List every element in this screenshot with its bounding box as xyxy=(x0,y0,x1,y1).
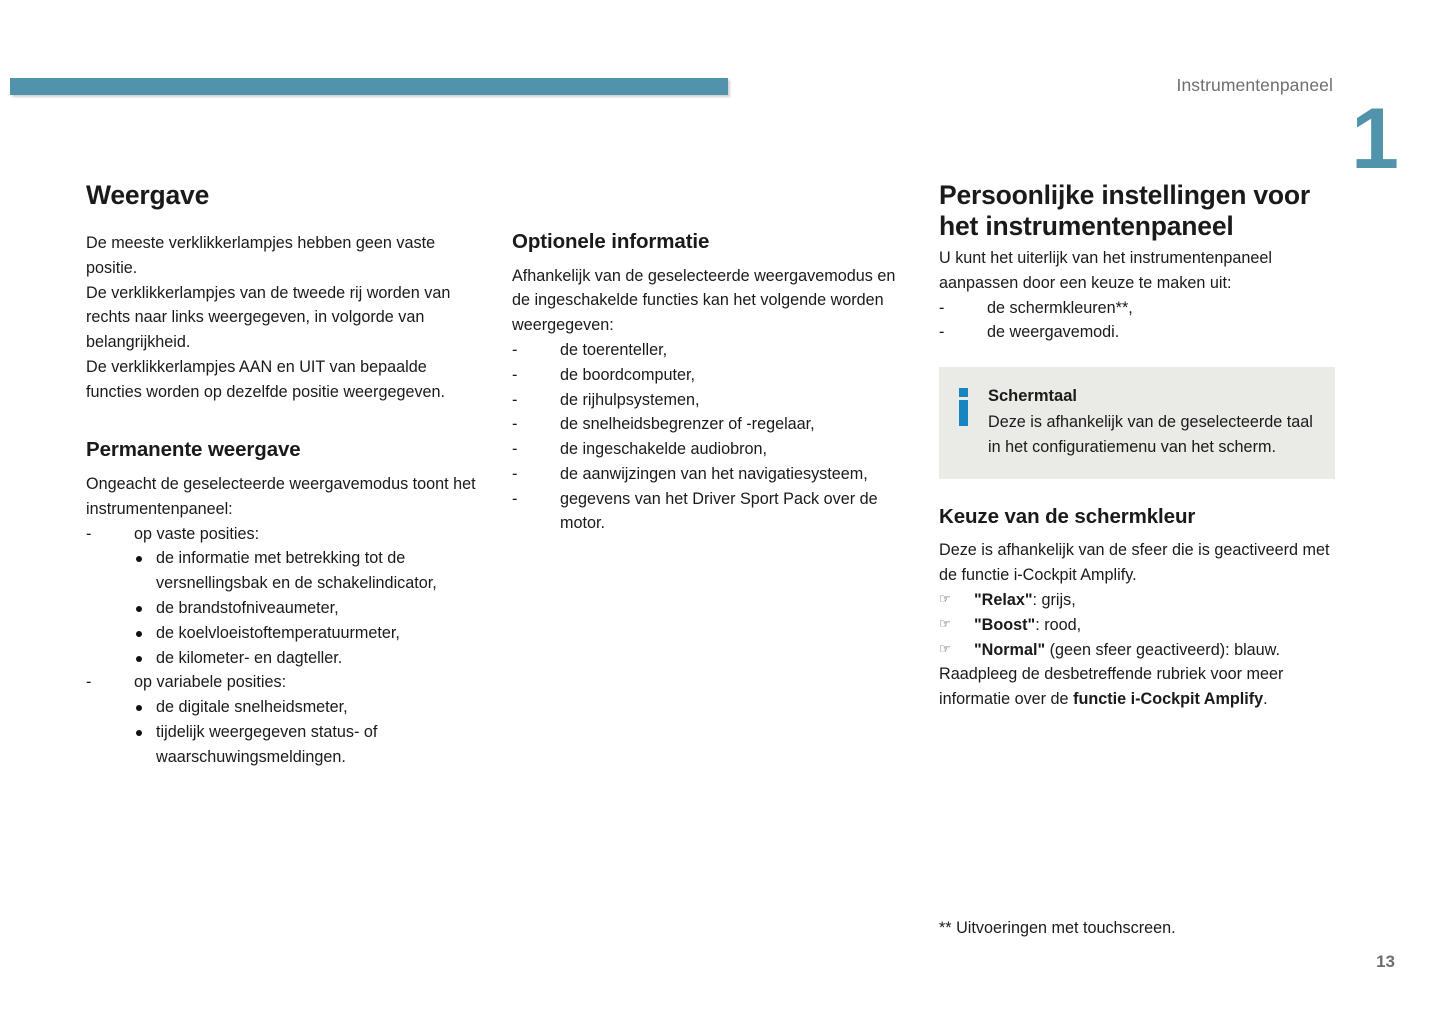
mode-name: "Normal" xyxy=(974,641,1045,659)
list-item-label: op vaste posities: xyxy=(134,525,259,543)
list-item: tijdelijk weergegeven status- of waarsch… xyxy=(134,720,478,770)
info-icon-stem xyxy=(959,400,968,426)
section-heading-persoonlijke-instellingen: Persoonlijke instellingen voor het instr… xyxy=(939,180,1339,242)
footnote: ** Uitvoeringen met touchscreen. xyxy=(939,916,1176,940)
list-item: op variabele posities: de digitale snelh… xyxy=(86,670,478,769)
paragraph-intro: Deze is afhankelijk van de sfeer die is … xyxy=(939,538,1339,588)
list-schermkleuren: "Relax": grijs, "Boost": rood, "Normal" … xyxy=(939,588,1339,662)
info-box-text: Deze is afhankelijk van de geselecteerde… xyxy=(988,410,1315,459)
sublist: de digitale snelheidsmeter, tijdelijk we… xyxy=(134,695,478,769)
paragraph-intro: Afhankelijk van de geselecteerde weergav… xyxy=(512,264,910,338)
chapter-number: 1 xyxy=(1351,96,1397,182)
list-item: de informatie met betrekking tot de vers… xyxy=(134,546,478,596)
list-item: de brandstofniveaumeter, xyxy=(134,596,478,621)
column-middle: Optionele informatie Afhankelijk van de … xyxy=(512,230,910,536)
column-left: Weergave De meeste verklikkerlampjes heb… xyxy=(86,180,478,769)
list-item: de toerenteller, xyxy=(512,338,910,363)
mode-value: : rood, xyxy=(1035,616,1081,634)
list-permanente-weergave: op vaste posities: de informatie met bet… xyxy=(86,522,478,770)
paragraph-outro: Raadpleeg de desbetreffende rubriek voor… xyxy=(939,662,1339,712)
paragraph: De verklikkerlampjes van de tweede rij w… xyxy=(86,281,478,355)
list-item: de digitale snelheidsmeter, xyxy=(134,695,478,720)
subheading-permanente-weergave: Permanente weergave xyxy=(86,438,478,463)
info-box-title: Schermtaal xyxy=(988,385,1315,408)
column-right: Persoonlijke instellingen voor het instr… xyxy=(939,180,1339,712)
list-item: "Normal" (geen sfeer geactiveerd): blauw… xyxy=(939,638,1339,663)
subheading-optionele-informatie: Optionele informatie xyxy=(512,230,910,255)
paragraph: De meeste verklikkerlampjes hebben geen … xyxy=(86,231,478,281)
list-item-label: op variabele posities: xyxy=(134,673,286,691)
mode-value: : grijs, xyxy=(1033,591,1076,609)
info-icon-dot xyxy=(959,388,968,397)
subheading-keuze-schermkleur: Keuze van de schermkleur xyxy=(939,505,1339,530)
list-item: de ingeschakelde audiobron, xyxy=(512,437,910,462)
paragraph: De verklikkerlampjes AAN en UIT van bepa… xyxy=(86,355,478,405)
outro-text-bold: functie i-Cockpit Amplify xyxy=(1073,690,1263,708)
outro-text-post: . xyxy=(1263,690,1268,708)
info-icon xyxy=(959,385,970,459)
list-item: de aanwijzingen van het navigatiesysteem… xyxy=(512,462,910,487)
list-item: de snelheidsbegrenzer of -regelaar, xyxy=(512,412,910,437)
list-item: "Relax": grijs, xyxy=(939,588,1339,613)
section-heading-weergave: Weergave xyxy=(86,180,478,211)
paragraph-intro: U kunt het uiterlijk van het instrumente… xyxy=(939,246,1339,296)
list-item: op vaste posities: de informatie met bet… xyxy=(86,522,478,671)
list-item: de weergavemodi. xyxy=(939,320,1339,345)
info-box-body: Schermtaal Deze is afhankelijk van de ge… xyxy=(988,385,1315,459)
list-item: "Boost": rood, xyxy=(939,613,1339,638)
list-item: gegevens van het Driver Sport Pack over … xyxy=(512,487,910,537)
list-item: de kilometer- en dagteller. xyxy=(134,646,478,671)
list-persoonlijke-instellingen: de schermkleuren**, de weergavemodi. xyxy=(939,296,1339,346)
page-number: 13 xyxy=(1376,952,1395,972)
info-box-schermtaal: Schermtaal Deze is afhankelijk van de ge… xyxy=(939,367,1335,479)
list-item: de rijhulpsystemen, xyxy=(512,388,910,413)
list-item: de boordcomputer, xyxy=(512,363,910,388)
mode-name: "Boost" xyxy=(974,616,1035,634)
list-item: de koelvloeistoftemperatuurmeter, xyxy=(134,621,478,646)
mode-name: "Relax" xyxy=(974,591,1033,609)
sublist: de informatie met betrekking tot de vers… xyxy=(134,546,478,670)
list-optionele-informatie: de toerenteller, de boordcomputer, de ri… xyxy=(512,338,910,536)
mode-value: (geen sfeer geactiveerd): blauw. xyxy=(1045,641,1280,659)
page-header-title: Instrumentenpaneel xyxy=(1177,75,1334,96)
paragraph-intro: Ongeacht de geselecteerde weergavemodus … xyxy=(86,472,478,522)
header-rule xyxy=(10,78,728,95)
list-item: de schermkleuren**, xyxy=(939,296,1339,321)
